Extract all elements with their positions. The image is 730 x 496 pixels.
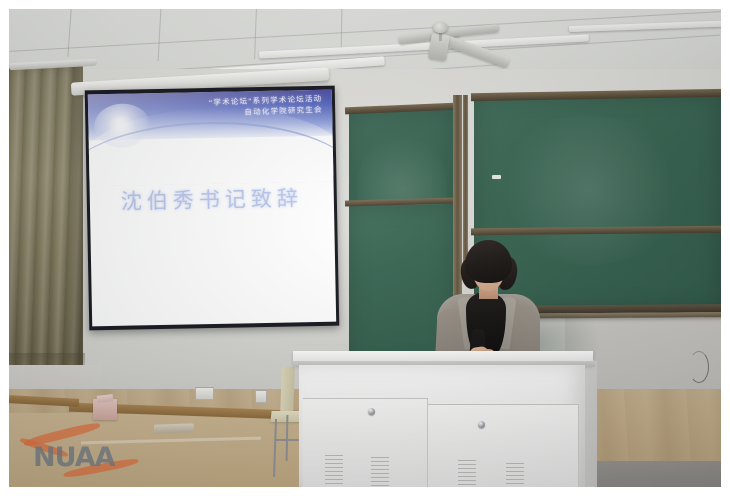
ceiling-tile-line [67,9,71,57]
ceiling-tile-line [254,9,257,59]
podium-vent-louver [506,463,524,487]
podium-vent-louver [458,460,476,487]
chalk-piece [492,175,501,179]
projection-screen: “学术论坛”系列学术论坛活动 自动化学院研究生会 沈伯秀书记致辞 [88,90,336,327]
wall-outlet[interactable] [255,390,267,403]
podium-cabinet-door[interactable] [303,398,428,487]
podium-door-knob[interactable] [478,421,485,428]
floor-debris [154,423,194,433]
blackboard-glare [494,115,684,265]
nuaa-logo-watermark: NUAA [17,424,137,486]
projection-screen-frame: “学术论坛”系列学术论坛活动 自动化学院研究生会 沈伯秀书记致辞 [85,86,340,331]
chair-backrest[interactable] [280,367,295,415]
wall-outlet[interactable] [195,387,214,400]
watermark-text: NUAA [33,442,114,473]
slide-title: 沈伯秀书记致辞 [90,182,335,217]
speaker-hair [465,240,512,283]
ceiling-tile-line [158,9,162,61]
slide-header-text: “学术论坛”系列学术论坛活动 自动化学院研究生会 [208,93,322,119]
podium-door-knob[interactable] [368,408,375,415]
classroom-photograph: “学术论坛”系列学术论坛活动 自动化学院研究生会 沈伯秀书记致辞 [9,9,721,487]
window-curtain [9,65,83,383]
blackboard-center-track [453,95,462,325]
ceiling-fan-icon [433,22,448,33]
podium-vent-louver [325,455,343,487]
hanging-cable [689,351,709,383]
blackboard-center-track [463,95,468,275]
podium-cabinet-door[interactable] [428,404,579,487]
podium-vent-louver [371,457,389,487]
photo-frame: “学术论坛”系列学术论坛活动 自动化学院研究生会 沈伯秀书记致辞 [0,0,730,496]
